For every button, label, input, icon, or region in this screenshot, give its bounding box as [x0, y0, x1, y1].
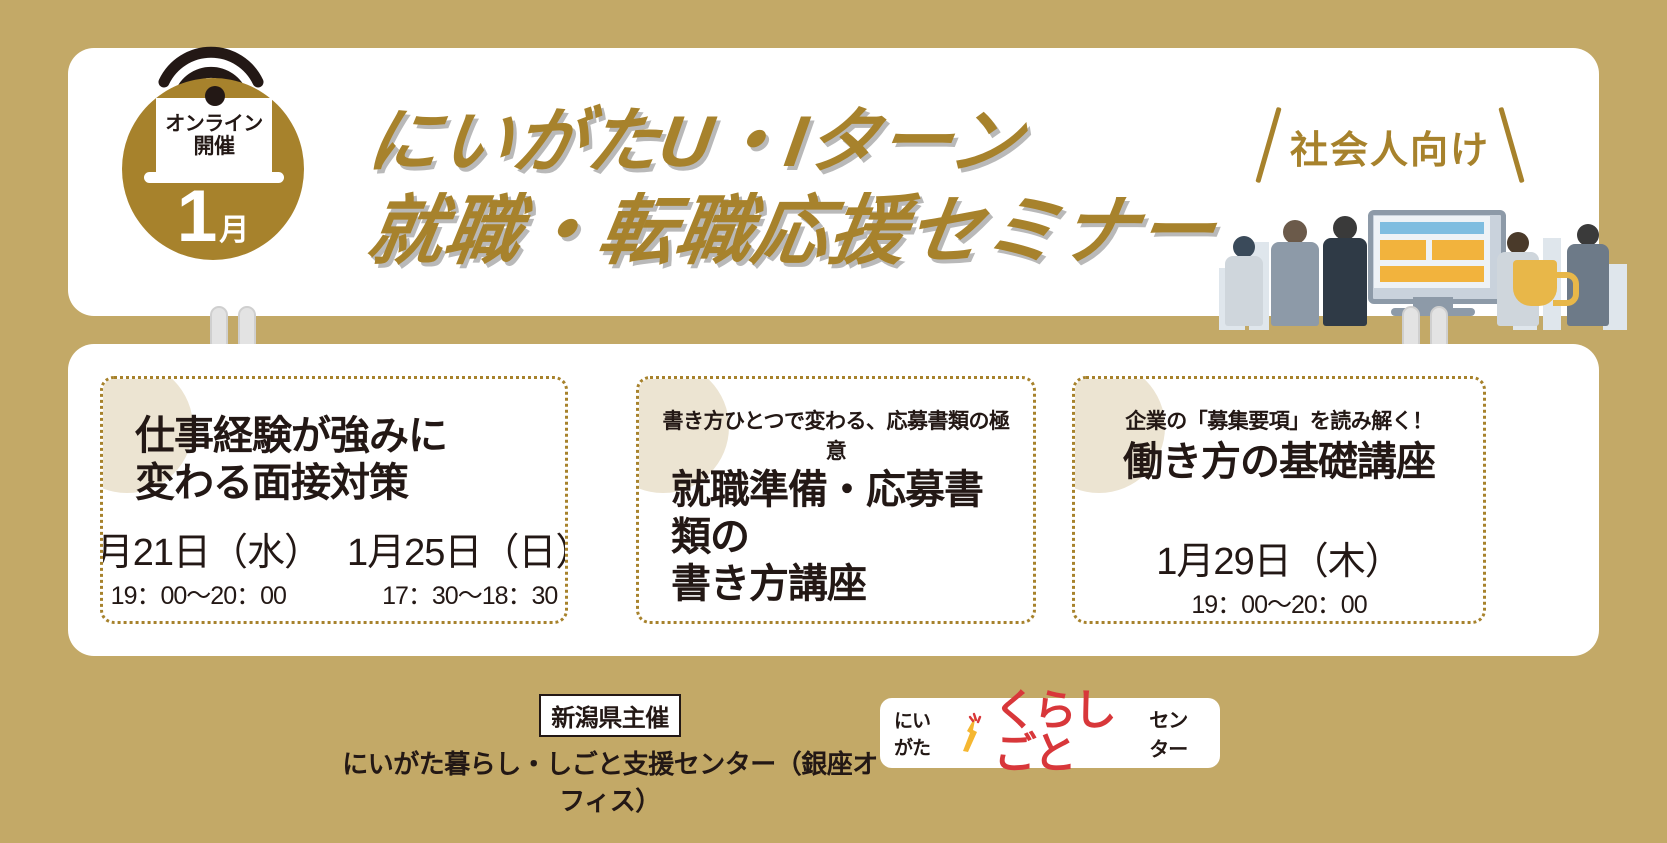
- poster-canvas: オンライン 開催 1 月 にいがたU・Iターン 就職・転職応援セミナー 社会人向…: [0, 0, 1667, 843]
- month-unit: 月: [219, 205, 249, 249]
- slash-left-icon: [1255, 107, 1281, 183]
- coffee-cup-handle: [1553, 272, 1579, 306]
- card-sessions: 1月25日（日） 16：00〜17：00: [657, 623, 1015, 624]
- kurashigoto-logo[interactable]: にいがた くらしごと センター: [880, 698, 1220, 768]
- session-entry: 1月25日（日） 17：30〜18：30: [347, 521, 568, 612]
- online-label-line1: オンライン: [165, 113, 263, 135]
- person-head: [1577, 224, 1599, 246]
- online-label: オンライン 開催: [156, 100, 272, 172]
- session-card-documents[interactable]: 書き方ひとつで変わる、応募書類の極意 就職準備・応募書類の 書き方講座 1月25…: [636, 376, 1036, 624]
- card-heading-line1: 就職準備・応募書類の: [671, 467, 1015, 561]
- person-head: [1333, 216, 1357, 240]
- slash-right-icon: [1498, 107, 1524, 183]
- card-heading-line2: 変わる面接対策: [135, 460, 547, 507]
- session-date: 1月29日（木）: [1156, 530, 1401, 585]
- card-heading-line1: 仕事経験が強みに: [135, 413, 547, 460]
- month-number: 1: [177, 180, 218, 253]
- audience-badge-label: 社会人向け: [1290, 119, 1490, 174]
- card-heading: 仕事経験が強みに 変わる面接対策: [121, 413, 547, 507]
- hero-illustration: [1213, 198, 1633, 330]
- session-time: 17：30〜18：30: [347, 576, 568, 612]
- online-month-badge: オンライン 開催 1 月: [104, 42, 314, 292]
- card-sessions: 1月21日（水） 19：00〜20：00 1月25日（日） 17：30〜18：3…: [121, 521, 547, 612]
- card-sessions: 1月29日（木） 19：00〜20：00: [1093, 530, 1465, 621]
- card-subtitle: 書き方ひとつで変わる、応募書類の極意: [657, 405, 1015, 465]
- host-tag: 新潟県主催: [539, 694, 681, 737]
- card-heading-line2: 書き方講座: [671, 561, 1015, 608]
- card-subtitle: 企業の「募集要項」を読み解く！: [1093, 405, 1465, 435]
- hero-title-line1: にいがたU・Iターン: [362, 106, 1273, 178]
- person-body: [1225, 256, 1263, 326]
- screen-bar: [1432, 240, 1484, 260]
- screen-bar: [1380, 240, 1426, 260]
- month-label: 1 月: [122, 172, 304, 260]
- hero-title-line2: 就職・転職応援セミナー: [362, 194, 1274, 270]
- session-entry: 1月29日（木） 19：00〜20：00: [1156, 530, 1401, 621]
- host-name: にいがた暮らし・しごと支援センター（銀座オフィス）: [330, 744, 890, 818]
- hero-panel: オンライン 開催 1 月 にいがたU・Iターン 就職・転職応援セミナー 社会人向…: [68, 48, 1599, 316]
- host-info: 新潟県主催 にいがた暮らし・しごと支援センター（銀座オフィス）: [330, 694, 890, 818]
- audience-badge: 社会人向け: [1256, 110, 1524, 182]
- card-heading-line1: 働き方の基礎講座: [1093, 439, 1465, 486]
- person-body: [1323, 238, 1367, 326]
- coffee-cup-icon: [1513, 260, 1557, 306]
- card-heading: 働き方の基礎講座: [1093, 439, 1465, 486]
- session-time: 19：00〜20：00: [1156, 585, 1401, 621]
- online-label-line2: 開催: [194, 135, 235, 159]
- screen-bar: [1380, 222, 1484, 234]
- session-date: 1月21日（水）: [100, 521, 321, 576]
- logo-suffix: センター: [1149, 704, 1206, 762]
- hero-title: にいがたU・Iターン 就職・転職応援セミナー: [368, 106, 1268, 270]
- session-date: 1月25日（日）: [713, 623, 958, 624]
- person-body: [1271, 242, 1319, 326]
- session-card-workstyle[interactable]: 企業の「募集要項」を読み解く！ 働き方の基礎講座 1月29日（木） 19：00〜…: [1072, 376, 1486, 624]
- session-time: 19：00〜20：00: [100, 576, 321, 612]
- footer: 新潟県主催 にいがた暮らし・しごと支援センター（銀座オフィス） にいがた くらし…: [0, 686, 1667, 786]
- logo-main: くらしごと: [994, 690, 1143, 776]
- session-entry: 1月21日（水） 19：00〜20：00: [100, 521, 321, 612]
- session-card-interview[interactable]: 仕事経験が強みに 変わる面接対策 1月21日（水） 19：00〜20：00 1月…: [100, 376, 568, 624]
- card-heading: 就職準備・応募書類の 書き方講座: [657, 467, 1015, 609]
- screen-bar: [1380, 266, 1484, 282]
- person-head: [1283, 220, 1307, 244]
- session-date: 1月25日（日）: [347, 521, 568, 576]
- session-entry: 1月25日（日） 16：00〜17：00: [713, 623, 958, 624]
- person-head: [1507, 232, 1529, 254]
- sessions-panel: 仕事経験が強みに 変わる面接対策 1月21日（水） 19：00〜20：00 1月…: [68, 344, 1599, 656]
- niigata-map-icon: [954, 711, 988, 755]
- logo-prefix: にいがた: [894, 706, 948, 760]
- person-head: [1233, 236, 1255, 258]
